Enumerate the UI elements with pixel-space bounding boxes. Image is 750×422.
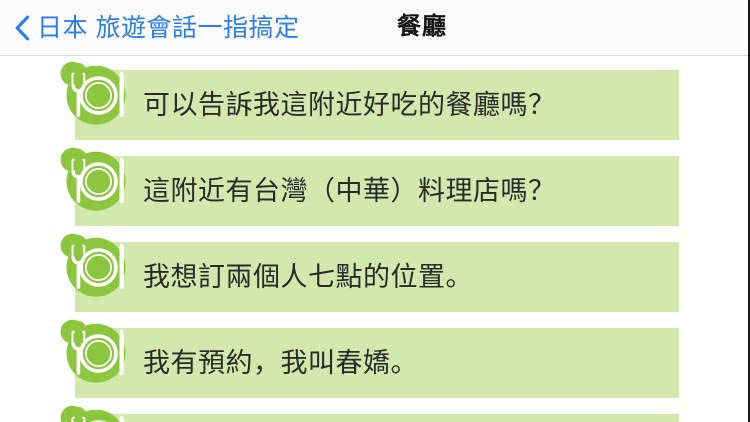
list-item[interactable]: 我想訂兩個人七點的位置。	[0, 242, 748, 312]
navigation-bar: 日本 旅遊會話一指搞定 餐廳	[0, 0, 748, 56]
restaurant-plate-fork-knife-icon	[60, 144, 132, 216]
restaurant-plate-fork-knife-icon	[60, 58, 132, 130]
phrase-list[interactable]: 可以告訴我這附近好吃的餐廳嗎？ 這附近有台灣（中華）料理店嗎？	[0, 57, 748, 422]
back-button-label: 日本 旅遊會話一指搞定	[37, 13, 299, 43]
page-title: 餐廳	[342, 11, 502, 43]
list-item[interactable]	[0, 414, 748, 422]
phrase-text: 我有預約，我叫春嬌。	[143, 328, 418, 398]
phrase-text: 可以告訴我這附近好吃的餐廳嗎？	[143, 70, 556, 140]
back-button[interactable]: 日本 旅遊會話一指搞定	[14, 11, 299, 45]
phrase-bar	[75, 414, 679, 422]
list-item[interactable]: 可以告訴我這附近好吃的餐廳嗎？	[0, 70, 748, 140]
phrase-text: 這附近有台灣（中華）料理店嗎？	[143, 156, 556, 226]
app-screen: 日本 旅遊會話一指搞定 餐廳 可以告訴我這附近好吃的餐廳嗎？	[0, 0, 750, 422]
chevron-left-icon[interactable]	[14, 15, 30, 41]
list-item[interactable]: 我有預約，我叫春嬌。	[0, 328, 748, 398]
restaurant-plate-fork-knife-icon	[60, 230, 132, 302]
restaurant-plate-fork-knife-icon	[60, 316, 132, 388]
restaurant-plate-fork-knife-icon	[60, 402, 132, 422]
list-item[interactable]: 這附近有台灣（中華）料理店嗎？	[0, 156, 748, 226]
phrase-text: 我想訂兩個人七點的位置。	[143, 242, 473, 312]
